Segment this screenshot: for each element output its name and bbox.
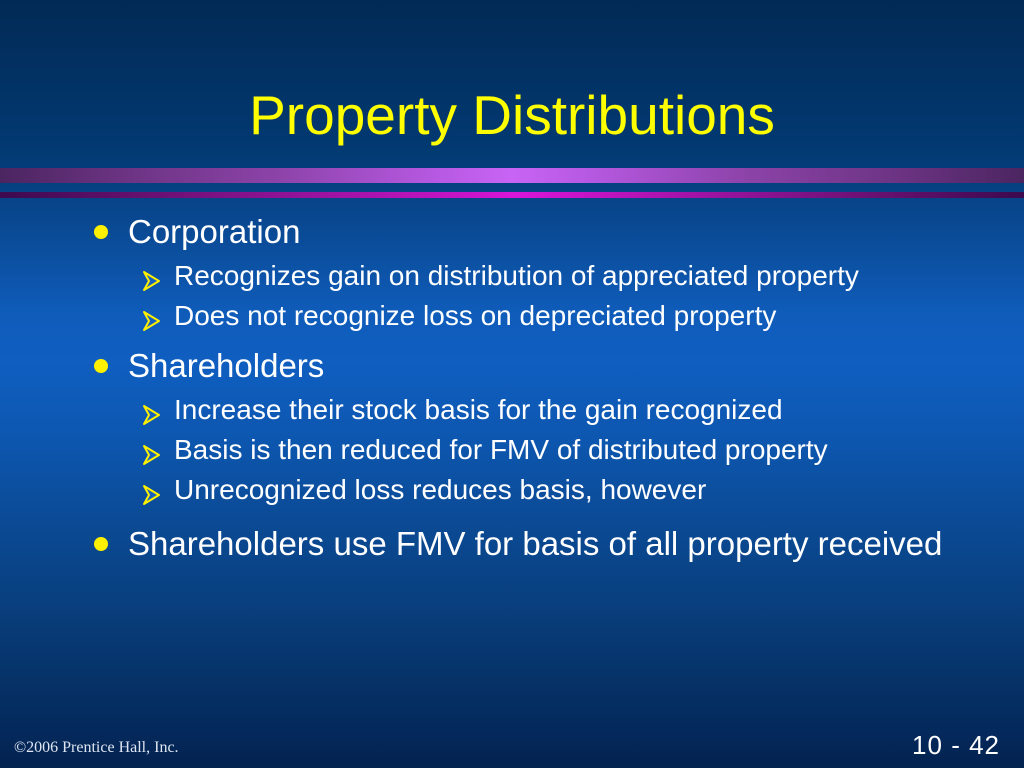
bullet-dot-icon <box>94 225 108 239</box>
list-item-level2: Recognizes gain on distribution of appre… <box>78 256 958 296</box>
bullet-dot-icon <box>94 537 108 551</box>
list-item-level2-label: Recognizes gain on distribution of appre… <box>174 260 859 291</box>
accent-bar-wide <box>0 168 1024 183</box>
list-item-level1: Shareholders <box>78 344 958 388</box>
list-item-level2-label: Does not recognize loss on depreciated p… <box>174 300 776 331</box>
list-item-level2-label: Increase their stock basis for the gain … <box>174 394 783 425</box>
bullet-dot-icon <box>94 359 108 373</box>
spacer <box>78 510 958 522</box>
title-area: Property Distributions <box>0 48 1024 182</box>
list-item-level1: Shareholders use FMV for basis of all pr… <box>78 522 958 566</box>
copyright-notice: ©2006 Prentice Hall, Inc. <box>14 738 179 758</box>
sublist-group: Recognizes gain on distribution of appre… <box>78 256 958 336</box>
list-item-level2-label: Unrecognized loss reduces basis, however <box>174 474 706 505</box>
page-title: Property Distributions <box>249 85 775 145</box>
accent-bar-thin <box>0 192 1024 198</box>
list-item-level1-label: Shareholders use FMV for basis of all pr… <box>128 525 942 562</box>
arrow-bullet-icon <box>140 304 164 328</box>
list-item-level2: Basis is then reduced for FMV of distrib… <box>78 430 958 470</box>
arrow-bullet-icon <box>140 264 164 288</box>
list-item-level2: Increase their stock basis for the gain … <box>78 390 958 430</box>
list-item-level1: Corporation <box>78 210 958 254</box>
arrow-bullet-icon <box>140 438 164 462</box>
page-number: 10 - 42 <box>912 730 1000 760</box>
body-content: Corporation Recognizes gain on distribut… <box>78 210 958 568</box>
list-item-level2: Unrecognized loss reduces basis, however <box>78 470 958 510</box>
sublist-group: Increase their stock basis for the gain … <box>78 390 958 510</box>
list-item-level1-label: Shareholders <box>128 347 324 384</box>
slide-canvas: Property Distributions Corporation Recog… <box>0 0 1024 768</box>
list-item-level2-label: Basis is then reduced for FMV of distrib… <box>174 434 828 465</box>
arrow-bullet-icon <box>140 398 164 422</box>
arrow-bullet-icon <box>140 478 164 502</box>
list-item-level1-label: Corporation <box>128 213 300 250</box>
spacer <box>78 336 958 344</box>
list-item-level2: Does not recognize loss on depreciated p… <box>78 296 958 336</box>
